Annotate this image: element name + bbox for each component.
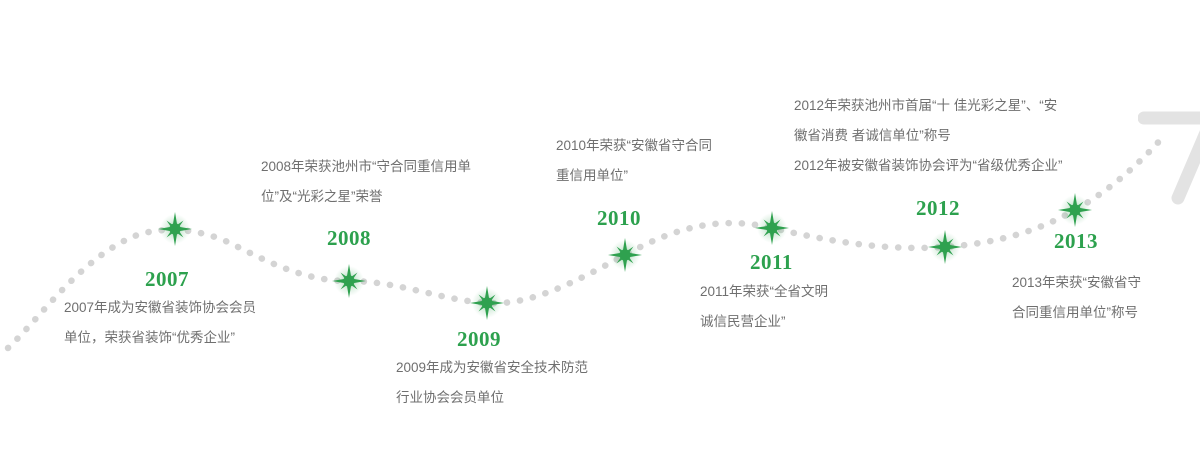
- milestone-description-line: 重信用单位”: [556, 161, 712, 191]
- milestone-description-line: 2011年荣获“全省文明: [700, 277, 828, 307]
- milestone-description-2011: 2011年荣获“全省文明诚信民营企业”: [700, 277, 828, 337]
- milestone-description-2008: 2008年荣获池州市“守合同重信用单位”及“光彩之星”荣誉: [261, 152, 471, 212]
- milestone-description-line: 合同重信用单位”称号: [1012, 298, 1141, 328]
- milestone-description-2007: 2007年成为安徽省装饰协会会员单位，荣获省装饰“优秀企业”: [64, 293, 256, 353]
- year-label-2007: 2007: [145, 267, 189, 292]
- milestone-description-line: 行业协会会员单位: [396, 383, 588, 413]
- year-label-2011: 2011: [750, 250, 793, 275]
- milestone-description-line: 2007年成为安徽省装饰协会会员: [64, 293, 256, 323]
- milestone-description-line: 2008年荣获池州市“守合同重信用单: [261, 152, 471, 182]
- milestone-marker-2009: [470, 286, 504, 320]
- year-label-2009: 2009: [457, 327, 501, 352]
- milestone-description-line: 徽省消费 者诚信单位”称号: [794, 121, 1063, 151]
- timeline-infographic: 20072007年成为安徽省装饰协会会员单位，荣获省装饰“优秀企业”200820…: [0, 0, 1200, 465]
- milestone-description-line: 单位，荣获省装饰“优秀企业”: [64, 323, 256, 353]
- milestone-marker-2013: [1058, 193, 1092, 227]
- milestone-markers: [0, 0, 1200, 465]
- milestone-description-line: 2010年荣获“安徽省守合同: [556, 131, 712, 161]
- milestone-description-line: 2009年成为安徽省安全技术防范: [396, 353, 588, 383]
- year-label-2008: 2008: [327, 226, 371, 251]
- milestone-marker-2012: [928, 230, 962, 264]
- milestone-description-line: 2012年被安徽省装饰协会评为“省级优秀企业”: [794, 151, 1063, 181]
- milestone-description-line: 2013年荣获“安徽省守: [1012, 268, 1141, 298]
- milestone-marker-2007: [158, 212, 192, 246]
- milestone-description-line: 诚信民营企业”: [700, 307, 828, 337]
- milestone-marker-2008: [332, 264, 366, 298]
- milestone-description-2013: 2013年荣获“安徽省守合同重信用单位”称号: [1012, 268, 1141, 328]
- milestone-marker-2010: [608, 238, 642, 272]
- year-label-2010: 2010: [597, 206, 641, 231]
- milestone-description-line: 2012年荣获池州市首届“十 佳光彩之星”、“安: [794, 91, 1063, 121]
- milestone-description-2012: 2012年荣获池州市首届“十 佳光彩之星”、“安徽省消费 者诚信单位”称号201…: [794, 91, 1063, 181]
- year-label-2012: 2012: [916, 196, 960, 221]
- milestone-marker-2011: [755, 211, 789, 245]
- milestone-description-2009: 2009年成为安徽省安全技术防范行业协会会员单位: [396, 353, 588, 413]
- milestone-description-2010: 2010年荣获“安徽省守合同重信用单位”: [556, 131, 712, 191]
- milestone-description-line: 位”及“光彩之星”荣誉: [261, 182, 471, 212]
- year-label-2013: 2013: [1054, 229, 1098, 254]
